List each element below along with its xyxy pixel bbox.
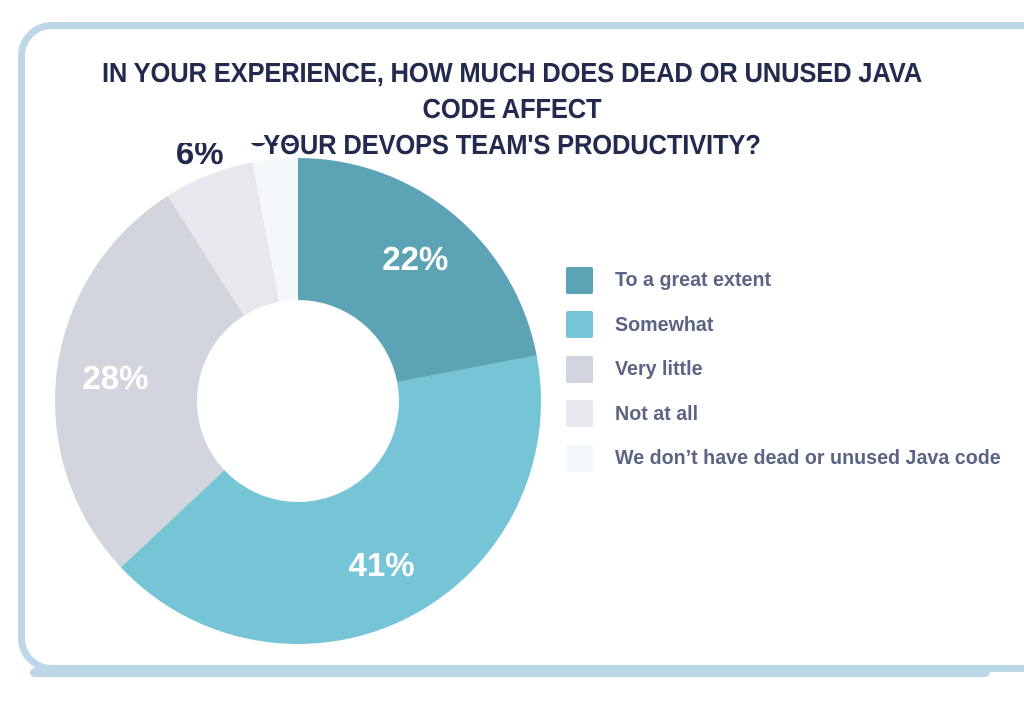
donut-slice-label: 28% bbox=[82, 359, 148, 396]
legend-item[interactable]: Not at all bbox=[566, 392, 996, 437]
legend-item[interactable]: Somewhat bbox=[566, 303, 996, 348]
chart-card: IN YOUR EXPERIENCE, HOW MUCH DOES DEAD O… bbox=[0, 0, 1024, 701]
donut-chart-svg: 22%41%28%6%3% bbox=[40, 143, 560, 663]
legend-item-label: Very little bbox=[615, 357, 703, 381]
legend-item-label: Somewhat bbox=[615, 313, 713, 337]
legend-item[interactable]: We don’t have dead or unused Java code bbox=[566, 436, 996, 481]
legend-color-swatch bbox=[566, 267, 593, 294]
donut-slice-label: 3% bbox=[249, 143, 297, 153]
legend-color-swatch bbox=[566, 445, 593, 472]
chart-legend: To a great extentSomewhatVery littleNot … bbox=[566, 258, 996, 481]
legend-color-swatch bbox=[566, 400, 593, 427]
legend-color-swatch bbox=[566, 311, 593, 338]
legend-item[interactable]: Very little bbox=[566, 347, 996, 392]
legend-item-label: Not at all bbox=[615, 402, 698, 426]
donut-slice-label: 22% bbox=[382, 240, 448, 277]
legend-item-label: We don’t have dead or unused Java code bbox=[615, 446, 1001, 470]
legend-item[interactable]: To a great extent bbox=[566, 258, 996, 303]
legend-item-label: To a great extent bbox=[615, 268, 771, 292]
legend-color-swatch bbox=[566, 356, 593, 383]
donut-slice-label: 41% bbox=[349, 546, 415, 583]
donut-slice-label: 6% bbox=[176, 143, 224, 171]
